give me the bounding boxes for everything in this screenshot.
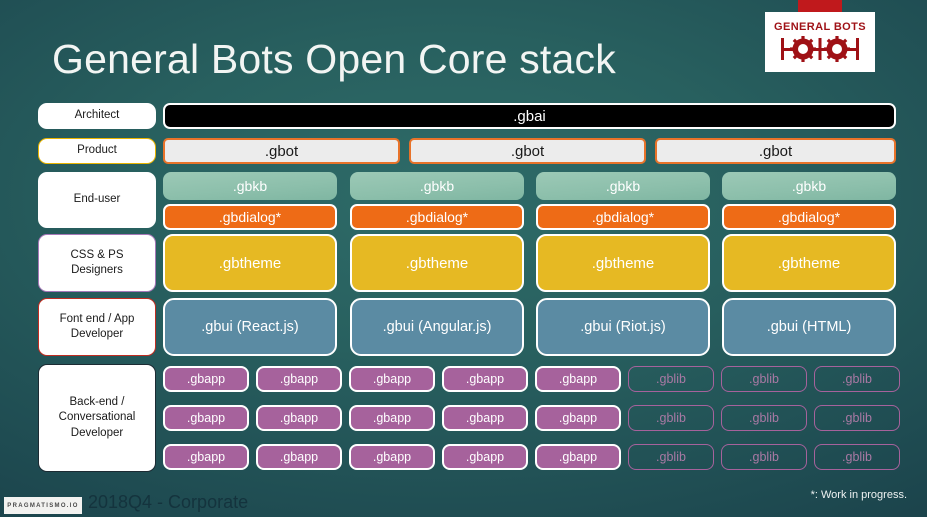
cell-label: .gbui (Riot.js): [580, 319, 665, 336]
gbapp-gblib-row-3-cell-3: .gbapp: [442, 444, 528, 470]
cell-label: .gblib: [749, 372, 779, 386]
gbapp-gblib-row-2-cell-7: .gblib: [814, 405, 900, 431]
gbtheme-row-cell-1: .gbtheme: [350, 234, 524, 292]
gbai-row-cell-0: .gbai: [163, 103, 896, 129]
gbot-row-cell-0: .gbot: [163, 138, 400, 164]
cell-label: .gbot: [265, 143, 298, 160]
gbapp-gblib-row-2-cell-6: .gblib: [721, 405, 807, 431]
cell-label: .gbapp: [466, 372, 504, 386]
gbapp-gblib-row-3-cell-5: .gblib: [628, 444, 714, 470]
cell-label: .gblib: [656, 372, 686, 386]
gbdialog-row-cell-3: .gbdialog*: [722, 204, 896, 230]
role-label-4: Font end / AppDeveloper: [38, 298, 156, 356]
role-label-0: Architect: [38, 103, 156, 129]
gbapp-gblib-row-2-cell-2: .gbapp: [349, 405, 435, 431]
cell-label: .gbapp: [373, 450, 411, 464]
cell-label: .gbapp: [373, 372, 411, 386]
cell-label: .gbapp: [373, 411, 411, 425]
cell-label: .gbapp: [559, 372, 597, 386]
cell-label: .gbot: [511, 143, 544, 160]
gbui-row-cell-1: .gbui (Angular.js): [350, 298, 524, 356]
gbapp-gblib-row-3-cell-6: .gblib: [721, 444, 807, 470]
cell-label: .gbkb: [792, 178, 826, 194]
cell-label: .gblib: [656, 411, 686, 425]
role-label-text: End-user: [74, 192, 121, 207]
footer-caption: 2018Q4 - Corporate: [88, 492, 248, 513]
gbot-row-cell-1: .gbot: [409, 138, 646, 164]
gbui-row-cell-0: .gbui (React.js): [163, 298, 337, 356]
gbdialog-row-cell-2: .gbdialog*: [536, 204, 710, 230]
gbapp-gblib-row-1-cell-4: .gbapp: [535, 366, 621, 392]
cell-label: .gblib: [656, 450, 686, 464]
gbdialog-row-cell-1: .gbdialog*: [350, 204, 524, 230]
cell-label: .gbdialog*: [219, 209, 281, 225]
cell-label: .gbdialog*: [592, 209, 654, 225]
gbdialog-row-cell-0: .gbdialog*: [163, 204, 337, 230]
role-label-text: Back-end /ConversationalDeveloper: [59, 395, 136, 441]
cell-label: .gbdialog*: [778, 209, 840, 225]
cell-label: .gbapp: [280, 411, 318, 425]
gbapp-gblib-row-3-cell-1: .gbapp: [256, 444, 342, 470]
gbapp-gblib-row-3-cell-4: .gbapp: [535, 444, 621, 470]
gbapp-gblib-row-1-cell-3: .gbapp: [442, 366, 528, 392]
cell-label: .gbapp: [466, 411, 504, 425]
gbui-row-cell-3: .gbui (HTML): [722, 298, 896, 356]
gbapp-gblib-row-1-cell-1: .gbapp: [256, 366, 342, 392]
role-label-text: Font end / AppDeveloper: [60, 312, 135, 342]
gbapp-gblib-row-3-cell-0: .gbapp: [163, 444, 249, 470]
cell-label: .gbtheme: [778, 255, 841, 272]
gbapp-gblib-row-1-cell-7: .gblib: [814, 366, 900, 392]
cell-label: .gblib: [842, 411, 872, 425]
general-bots-logo: GENERAL BOTS: [765, 0, 877, 82]
cell-label: .gbapp: [187, 450, 225, 464]
cell-label: .gbtheme: [592, 255, 655, 272]
cell-label: .gbapp: [466, 450, 504, 464]
cell-label: .gbkb: [233, 178, 267, 194]
gbtheme-row-cell-3: .gbtheme: [722, 234, 896, 292]
role-label-text: Architect: [75, 108, 120, 123]
gbtheme-row-cell-0: .gbtheme: [163, 234, 337, 292]
gbtheme-row-cell-2: .gbtheme: [536, 234, 710, 292]
role-label-text: CSS & PSDesigners: [70, 248, 123, 278]
cell-label: .gbapp: [280, 372, 318, 386]
cell-label: .gbkb: [420, 178, 454, 194]
gbui-row-cell-2: .gbui (Riot.js): [536, 298, 710, 356]
cell-label: .gbai: [513, 108, 546, 125]
cell-label: .gblib: [842, 450, 872, 464]
cell-label: .gbui (HTML): [767, 319, 852, 336]
cell-label: .gblib: [749, 411, 779, 425]
cell-label: .gbtheme: [219, 255, 282, 272]
gbapp-gblib-row-2-cell-5: .gblib: [628, 405, 714, 431]
gbapp-gblib-row-3-cell-7: .gblib: [814, 444, 900, 470]
gbkb-row-cell-0: .gbkb: [163, 172, 337, 200]
role-label-2: End-user: [38, 172, 156, 228]
gbkb-row-cell-2: .gbkb: [536, 172, 710, 200]
page-title: General Bots Open Core stack: [52, 36, 616, 83]
role-label-3: CSS & PSDesigners: [38, 234, 156, 292]
cell-label: .gbot: [759, 143, 792, 160]
cell-label: .gbui (Angular.js): [383, 319, 492, 336]
gbapp-gblib-row-1-cell-5: .gblib: [628, 366, 714, 392]
role-label-text: Product: [77, 143, 117, 158]
logo-wordmark: GENERAL BOTS: [774, 22, 866, 33]
gbkb-row-cell-3: .gbkb: [722, 172, 896, 200]
gbapp-gblib-row-2-cell-4: .gbapp: [535, 405, 621, 431]
gbapp-gblib-row-2-cell-3: .gbapp: [442, 405, 528, 431]
gbot-row-cell-2: .gbot: [655, 138, 896, 164]
cell-label: .gbapp: [187, 372, 225, 386]
cell-label: .gbtheme: [406, 255, 469, 272]
gbapp-gblib-row-1-cell-0: .gbapp: [163, 366, 249, 392]
pragmatismo-logo: PRAGMATISMO.IO: [4, 497, 82, 514]
role-label-1: Product: [38, 138, 156, 164]
cell-label: .gblib: [749, 450, 779, 464]
cell-label: .gbui (React.js): [201, 319, 299, 336]
footnote-work-in-progress: *: Work in progress.: [811, 489, 907, 501]
gbapp-gblib-row-2-cell-1: .gbapp: [256, 405, 342, 431]
two-gears-icon: [777, 36, 863, 62]
cell-label: .gblib: [842, 372, 872, 386]
cell-label: .gbapp: [559, 450, 597, 464]
cell-label: .gbapp: [559, 411, 597, 425]
gbapp-gblib-row-1-cell-2: .gbapp: [349, 366, 435, 392]
role-label-5: Back-end /ConversationalDeveloper: [38, 364, 156, 472]
cell-label: .gbkb: [606, 178, 640, 194]
gbapp-gblib-row-2-cell-0: .gbapp: [163, 405, 249, 431]
gbapp-gblib-row-1-cell-6: .gblib: [721, 366, 807, 392]
cell-label: .gbapp: [187, 411, 225, 425]
gbkb-row-cell-1: .gbkb: [350, 172, 524, 200]
cell-label: .gbdialog*: [406, 209, 468, 225]
cell-label: .gbapp: [280, 450, 318, 464]
logo-card: GENERAL BOTS: [765, 12, 875, 72]
gbapp-gblib-row-3-cell-2: .gbapp: [349, 444, 435, 470]
